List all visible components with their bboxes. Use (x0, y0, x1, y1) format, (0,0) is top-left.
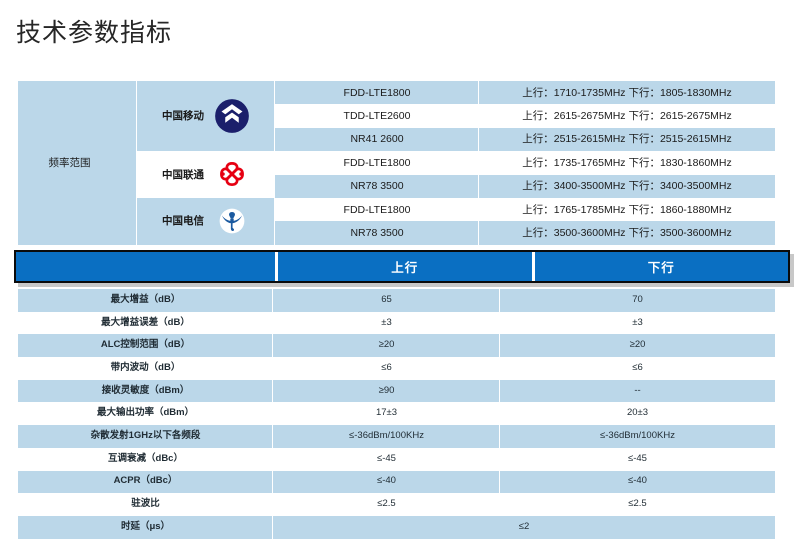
spec-downlink-value: ±3 (500, 312, 775, 335)
spec-downlink-value: ≤-45 (500, 448, 775, 471)
carrier-cell-china-unicom: 中国联通 (137, 151, 275, 198)
spec-uplink-value: ≤2.5 (273, 493, 500, 516)
spec-uplink-value: 65 (273, 289, 500, 312)
carrier-name: 中国移动 (162, 110, 204, 122)
spec-parameter-name: 带内波动（dB） (18, 357, 273, 380)
spec-parameter-name: ACPR（dBc） (18, 471, 273, 494)
table-row: ACPR（dBc） ≤-40 ≤-40 (18, 471, 775, 494)
page-title: 技术参数指标 (16, 17, 172, 49)
banner-uplink-header: 上行 (278, 252, 532, 281)
band-frequency-range: 上行：1710-1735MHz 下行：1805-1830MHz (479, 81, 775, 104)
band-technology: NR78 3500 (275, 221, 479, 244)
table-row: 最大输出功率（dBm） 17±3 20±3 (18, 402, 775, 425)
carrier-cell-china-mobile: 中国移动 (137, 81, 275, 151)
spec-downlink-value: ≤6 (500, 357, 775, 380)
china-telecom-logo-icon (214, 203, 250, 239)
spec-uplink-value: ≥20 (273, 334, 500, 357)
band-technology: NR78 3500 (275, 175, 479, 198)
band-technology: FDD-LTE1800 (275, 81, 479, 104)
band-frequency-range: 上行：2515-2615MHz 下行：2515-2615MHz (479, 128, 775, 151)
spec-downlink-value: -- (500, 380, 775, 403)
band-frequency-range: 上行：1735-1765MHz 下行：1830-1860MHz (479, 151, 775, 174)
spec-parameter-name: 最大输出功率（dBm） (18, 402, 273, 425)
band-frequency-range: 上行：2615-2675MHz 下行：2615-2675MHz (479, 104, 775, 127)
carrier-cell-china-telecom: 中国电信 (137, 198, 275, 245)
band-technology: FDD-LTE1800 (275, 151, 479, 174)
band-technology: FDD-LTE1800 (275, 198, 479, 221)
carrier-name: 中国电信 (162, 215, 204, 227)
band-technology: NR41 2600 (275, 128, 479, 151)
specification-table: 最大增益（dB） 65 70 最大增益误差（dB） ±3 ±3 ALC控制范围（… (18, 289, 775, 539)
table-row: 时延（μs） ≤2 (18, 516, 775, 539)
spec-table-header-banner: 上行 下行 (14, 250, 790, 283)
banner-blank-cell (16, 252, 278, 281)
spec-uplink-value: ≤-45 (273, 448, 500, 471)
china-unicom-logo-icon (214, 157, 250, 193)
carrier-name: 中国联通 (162, 169, 204, 181)
banner-body: 上行 下行 (14, 250, 790, 283)
band-frequency-range: 上行：3500-3600MHz 下行：3500-3600MHz (479, 221, 775, 244)
spec-uplink-value: 17±3 (273, 402, 500, 425)
table-row: 驻波比 ≤2.5 ≤2.5 (18, 493, 775, 516)
spec-parameter-name: 最大增益误差（dB） (18, 312, 273, 335)
spec-parameter-name: 时延（μs） (18, 516, 273, 539)
spec-uplink-value: ≤-36dBm/100KHz (273, 425, 500, 448)
spec-downlink-value: 20±3 (500, 402, 775, 425)
band-technology: TDD-LTE2600 (275, 104, 479, 127)
spec-parameter-name: 驻波比 (18, 493, 273, 516)
table-row: 接收灵敏度（dBm） ≥90 -- (18, 380, 775, 403)
frequency-table-body: 频率范围 中国移动 (18, 81, 775, 245)
table-row: ALC控制范围（dB） ≥20 ≥20 (18, 334, 775, 357)
table-row: 杂散发射1GHz以下各频段 ≤-36dBm/100KHz ≤-36dBm/100… (18, 425, 775, 448)
spec-parameter-name: 最大增益（dB） (18, 289, 273, 312)
spec-uplink-value: ≤-40 (273, 471, 500, 494)
spec-uplink-value: ≥90 (273, 380, 500, 403)
table-row: 最大增益误差（dB） ±3 ±3 (18, 312, 775, 335)
spec-parameter-name: 互调衰减（dBc） (18, 448, 273, 471)
band-frequency-range: 上行：3400-3500MHz 下行：3400-3500MHz (479, 175, 775, 198)
banner-downlink-header: 下行 (532, 252, 789, 281)
band-frequency-range: 上行：1765-1785MHz 下行：1860-1880MHz (479, 198, 775, 221)
table-row: 带内波动（dB） ≤6 ≤6 (18, 357, 775, 380)
spec-downlink-value: ≤2.5 (500, 493, 775, 516)
frequency-range-label: 频率范围 (18, 81, 137, 245)
spec-downlink-value: 70 (500, 289, 775, 312)
spec-merged-value: ≤2 (273, 516, 775, 539)
spec-downlink-value: ≥20 (500, 334, 775, 357)
specification-table-body: 最大增益（dB） 65 70 最大增益误差（dB） ±3 ±3 ALC控制范围（… (18, 289, 775, 539)
spec-downlink-value: ≤-36dBm/100KHz (500, 425, 775, 448)
table-row: 互调衰减（dBc） ≤-45 ≤-45 (18, 448, 775, 471)
table-row: 频率范围 中国移动 (18, 81, 775, 104)
spec-downlink-value: ≤-40 (500, 471, 775, 494)
table-row: 最大增益（dB） 65 70 (18, 289, 775, 312)
frequency-range-table: 频率范围 中国移动 (18, 81, 775, 245)
spec-parameter-name: ALC控制范围（dB） (18, 334, 273, 357)
spec-parameter-name: 杂散发射1GHz以下各频段 (18, 425, 273, 448)
spec-uplink-value: ≤6 (273, 357, 500, 380)
spec-uplink-value: ±3 (273, 312, 500, 335)
spec-parameter-name: 接收灵敏度（dBm） (18, 380, 273, 403)
china-mobile-logo-icon (214, 98, 250, 134)
